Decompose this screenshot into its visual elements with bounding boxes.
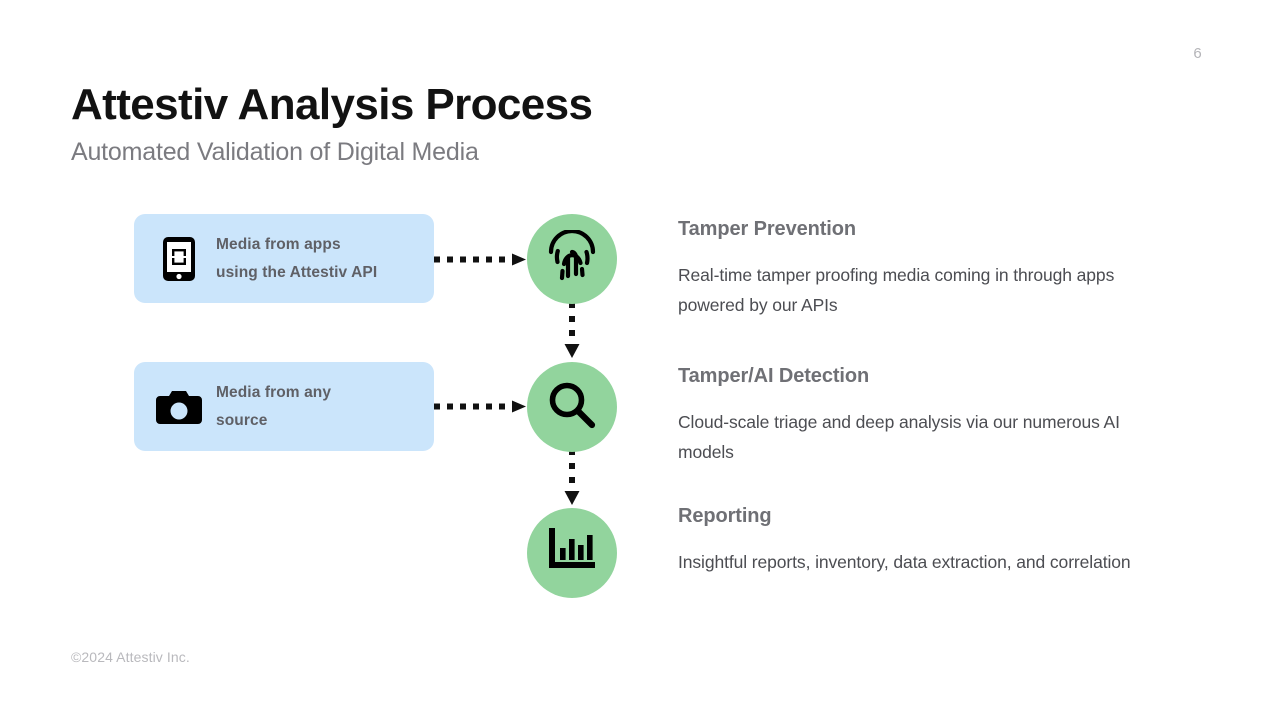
page-title: Attestiv Analysis Process <box>71 82 592 128</box>
input-source-box-apps[interactable]: Media from apps using the Attestiv API <box>134 214 434 303</box>
stage-body: Cloud-scale triage and deep analysis via… <box>678 407 1148 467</box>
page-number: 6 <box>1193 45 1202 62</box>
stage-body: Real-time tamper proofing media coming i… <box>678 260 1148 320</box>
camera-icon <box>156 388 202 426</box>
input-label-line-1: Media from any <box>216 379 331 407</box>
magnifying-glass-icon <box>545 378 599 437</box>
bar-chart-icon <box>546 526 598 581</box>
slide-canvas: 6 Attestiv Analysis Process Automated Va… <box>0 0 1280 719</box>
arrow-inputs-to-prevention <box>432 252 528 266</box>
arrow-inputs-to-detection <box>432 399 528 413</box>
stage-circle-reporting[interactable] <box>527 508 617 598</box>
fingerprint-icon <box>547 230 597 289</box>
stage-description-tamper-ai-detection: Tamper/AI Detection Cloud-scale triage a… <box>678 365 1148 467</box>
stage-description-reporting: Reporting Insightful reports, inventory,… <box>678 505 1148 577</box>
stage-heading: Tamper Prevention <box>678 218 1148 241</box>
arrow-detection-to-reporting <box>561 447 583 509</box>
input-source-label-apps: Media from apps using the Attestiv API <box>216 231 377 286</box>
stage-circle-tamper-ai-detection[interactable] <box>527 362 617 452</box>
footer-copyright: ©2024 Attestiv Inc. <box>71 649 190 665</box>
page-subtitle: Automated Validation of Digital Media <box>71 138 479 167</box>
stage-body: Insightful reports, inventory, data extr… <box>678 547 1148 577</box>
stage-heading: Tamper/AI Detection <box>678 365 1148 388</box>
mobile-phone-scan-icon <box>156 236 202 282</box>
input-label-line-2: using the Attestiv API <box>216 259 377 287</box>
input-label-line-2: source <box>216 407 331 435</box>
input-label-line-1: Media from apps <box>216 231 377 259</box>
input-source-label-any: Media from any source <box>216 379 331 434</box>
arrow-prevention-to-detection <box>561 300 583 362</box>
input-source-box-any[interactable]: Media from any source <box>134 362 434 451</box>
stage-description-tamper-prevention: Tamper Prevention Real-time tamper proof… <box>678 218 1148 320</box>
stage-heading: Reporting <box>678 505 1148 528</box>
stage-circle-tamper-prevention[interactable] <box>527 214 617 304</box>
